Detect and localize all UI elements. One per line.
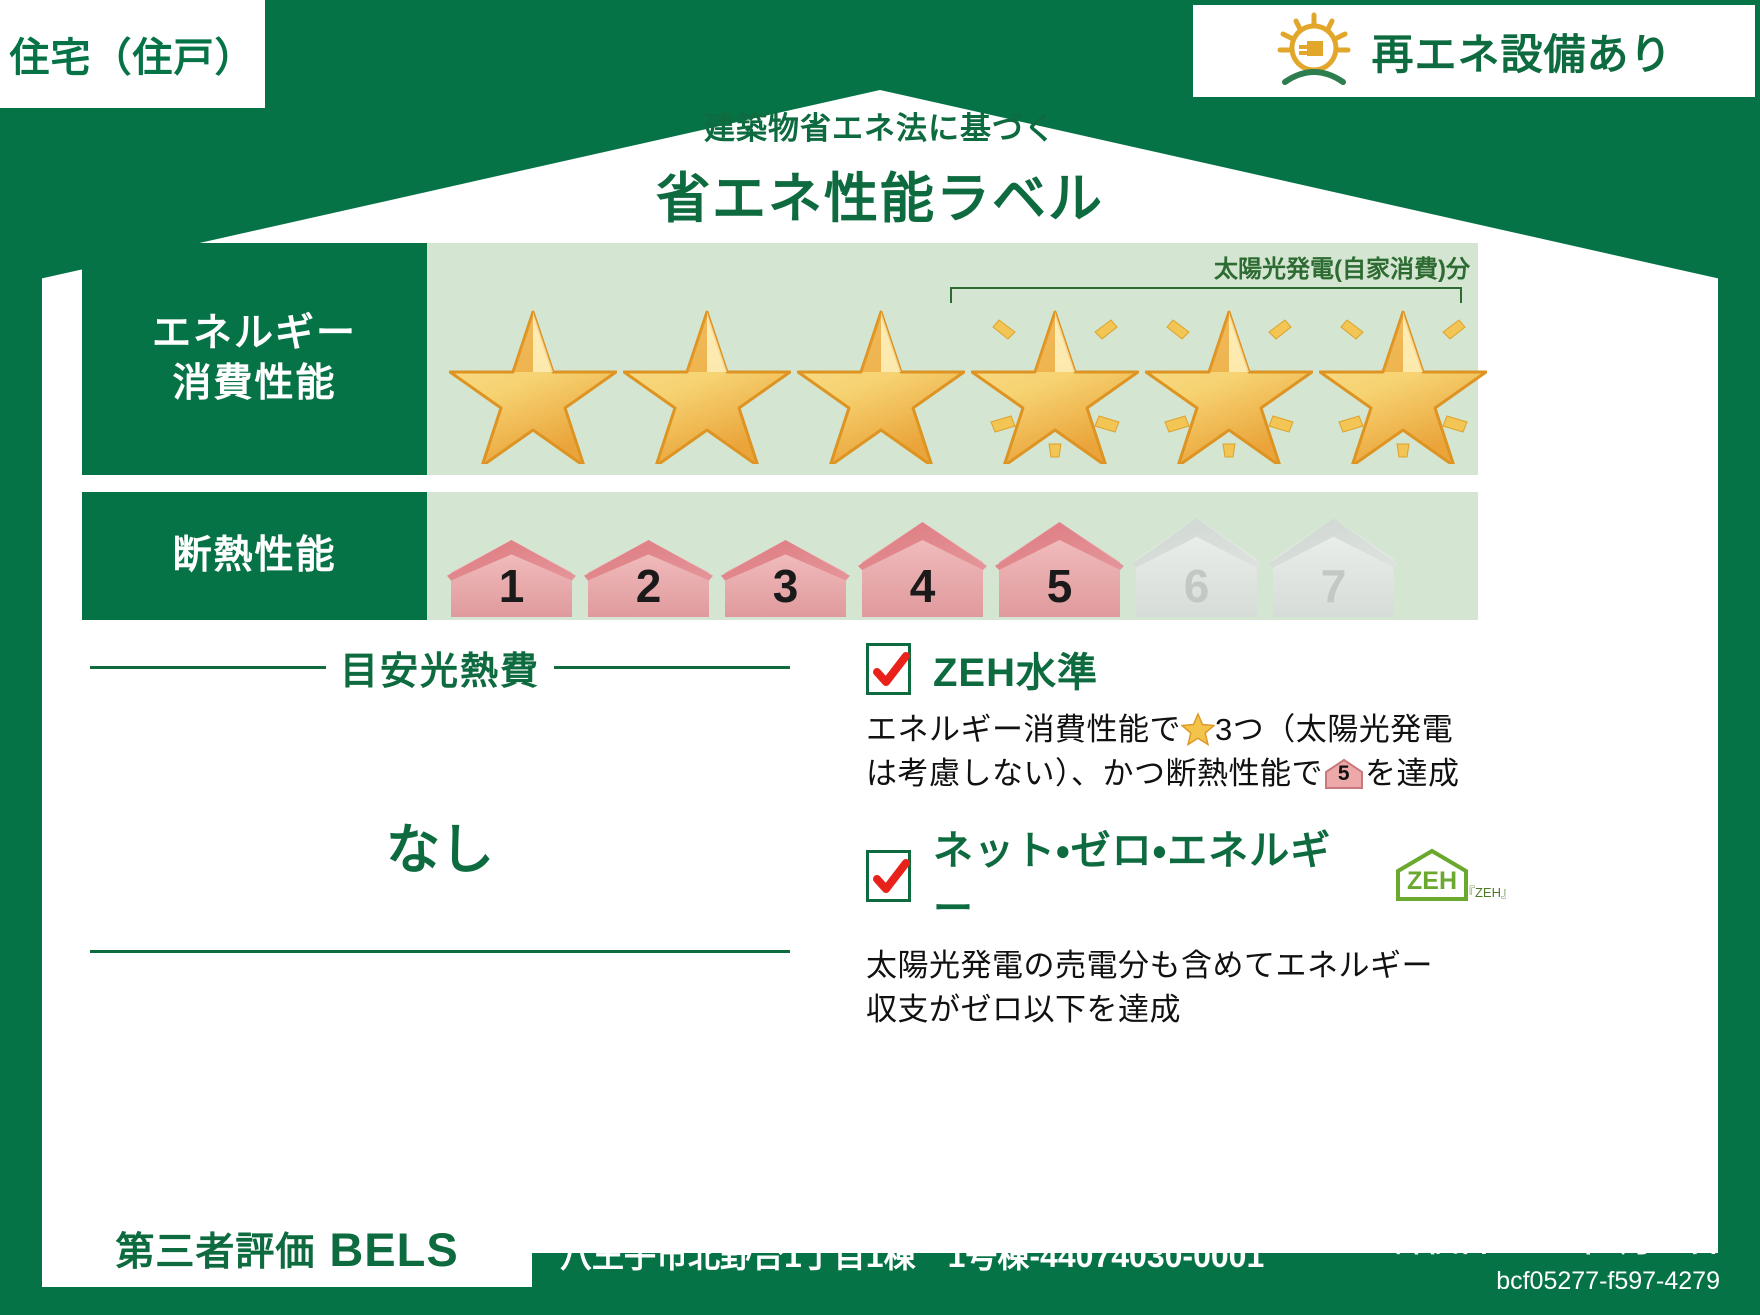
zeh-standard-title-row: ZEH水準	[866, 640, 1506, 698]
heading-subtitle: 建築物省エネ法に基づく	[0, 103, 1760, 148]
zeh-item-net-zero: ネット・ゼロ・エネルギー ZEH 『ZEH』 太陽光発電の売電分も含めてエネルギ…	[866, 818, 1506, 1032]
solar-note-label: 太陽光発電(自家消費)分	[1214, 249, 1470, 284]
insulation-house-number: 5	[993, 559, 1126, 613]
zeh-netzero-title: ネット・ゼロ・エネルギー	[933, 818, 1358, 934]
zeh-desc-part3: を達成	[1365, 756, 1460, 791]
zeh-standard-description: エネルギー消費性能で3つ（太陽光発電 は考慮しない）、かつ断熱性能で5を達成	[866, 708, 1506, 796]
insulation-house-number: 3	[719, 559, 852, 613]
energy-label-line1: エネルギー	[152, 309, 357, 359]
rule-right	[554, 666, 790, 669]
utility-cost-bottom-rule	[90, 950, 790, 953]
zeh-netzero-line2: 収支がゼロ以下を達成	[866, 992, 1181, 1027]
star-1-base	[449, 294, 617, 464]
zeh-standard-title: ZEH水準	[933, 640, 1098, 698]
property-address: 八王子市北野台1丁目1棟 1号棟-44074030-0001	[560, 1231, 1264, 1277]
insulation-levels-area: 1 2 3	[427, 492, 1478, 620]
evaluation-date: 評価日 2025年5月27日	[1395, 1215, 1720, 1261]
checkbox-zeh-standard[interactable]	[866, 643, 911, 695]
energy-performance-label: エネルギー 消費性能	[82, 243, 427, 475]
energy-performance-row: エネルギー 消費性能 太陽光発電(自家消費)分	[82, 243, 1478, 475]
house-type-badge: 住宅（住戸）	[0, 0, 265, 108]
evaluation-code: bcf05277-f597-4279	[1395, 1267, 1720, 1296]
insulation-house-number: 7	[1267, 559, 1400, 613]
utility-cost-block: 目安光熱費 なし	[90, 640, 790, 884]
energy-stars-area: 太陽光発電(自家消費)分	[427, 243, 1478, 475]
inline-house-icon: 5	[1323, 757, 1365, 791]
insulation-house-number: 4	[856, 559, 989, 613]
star-rating	[427, 287, 1478, 471]
utility-cost-header: 目安光熱費	[90, 640, 790, 695]
insulation-level-houses: 1 2 3	[427, 492, 1478, 620]
svg-text:『ZEH』: 『ZEH』	[1462, 885, 1506, 900]
inline-star-icon	[1181, 712, 1215, 746]
zeh-desc-part2: は考慮しない）、かつ断熱性能で	[866, 756, 1323, 791]
svg-text:ZEH: ZEH	[1407, 867, 1457, 895]
zeh-criteria-block: ZEH水準 エネルギー消費性能で3つ（太陽光発電 は考慮しない）、かつ断熱性能で…	[866, 640, 1506, 1054]
energy-label-root: 住宅（住戸） 再エネ設備あり	[0, 0, 1760, 1315]
bels-en-label: BELS	[329, 1222, 458, 1277]
insulation-house-1: 1	[445, 538, 578, 620]
insulation-house-number: 1	[445, 559, 578, 613]
zeh-netzero-line1: 太陽光発電の売電分も含めてエネルギー	[866, 948, 1433, 983]
footer-meta: 評価日 2025年5月27日 bcf05277-f597-4279	[1395, 1215, 1720, 1296]
insulation-performance-row: 断熱性能 1	[82, 492, 1478, 620]
insulation-house-6: 6	[1130, 516, 1263, 620]
bels-badge: 第三者評価 BELS	[42, 1211, 532, 1287]
star-4-solar	[971, 294, 1139, 464]
house-type-label: 住宅（住戸）	[10, 25, 256, 83]
star-2-base	[623, 294, 791, 464]
insulation-house-3: 3	[719, 538, 852, 620]
heading-title: 省エネ性能ラベル	[0, 154, 1760, 233]
label-footer: 第三者評価 BELS 八王子市北野台1丁目1棟 1号棟-44074030-000…	[0, 1205, 1760, 1315]
star-3-base	[797, 294, 965, 464]
insulation-label-text: 断熱性能	[172, 531, 336, 581]
insulation-house-number: 2	[582, 559, 715, 613]
zeh-netzero-title-row: ネット・ゼロ・エネルギー ZEH 『ZEH』	[866, 818, 1506, 934]
energy-label-line2: 消費性能	[172, 359, 336, 409]
zeh-desc-stars: 3つ（太陽光発電	[1215, 712, 1453, 747]
zeh-desc-part1: エネルギー消費性能で	[866, 712, 1181, 747]
star-5-solar	[1145, 294, 1313, 464]
solar-plug-icon	[1275, 12, 1353, 91]
zeh-logo-icon: ZEH 『ZEH』	[1388, 847, 1506, 905]
insulation-house-2: 2	[582, 538, 715, 620]
rule-left	[90, 666, 326, 669]
utility-cost-value: なし	[90, 805, 790, 884]
zeh-item-standard: ZEH水準 エネルギー消費性能で3つ（太陽光発電 は考慮しない）、かつ断熱性能で…	[866, 640, 1506, 796]
insulation-house-5: 5	[993, 520, 1126, 620]
renewable-badge-label: 再エネ設備あり	[1371, 21, 1672, 82]
bels-jp-label: 第三者評価	[115, 1221, 315, 1277]
inline-house-number: 5	[1323, 757, 1365, 791]
insulation-house-number: 6	[1130, 559, 1263, 613]
utility-cost-title: 目安光熱費	[340, 640, 540, 695]
zeh-netzero-description: 太陽光発電の売電分も含めてエネルギー 収支がゼロ以下を達成	[866, 944, 1506, 1032]
renewable-equipment-badge: 再エネ設備あり	[1193, 5, 1755, 97]
insulation-performance-label: 断熱性能	[82, 492, 427, 620]
insulation-house-7: 7	[1267, 516, 1400, 620]
label-heading: 建築物省エネ法に基づく 省エネ性能ラベル	[0, 103, 1760, 233]
checkbox-zeh-netzero[interactable]	[866, 850, 911, 902]
insulation-house-4: 4	[856, 520, 989, 620]
star-6-solar	[1319, 294, 1487, 464]
